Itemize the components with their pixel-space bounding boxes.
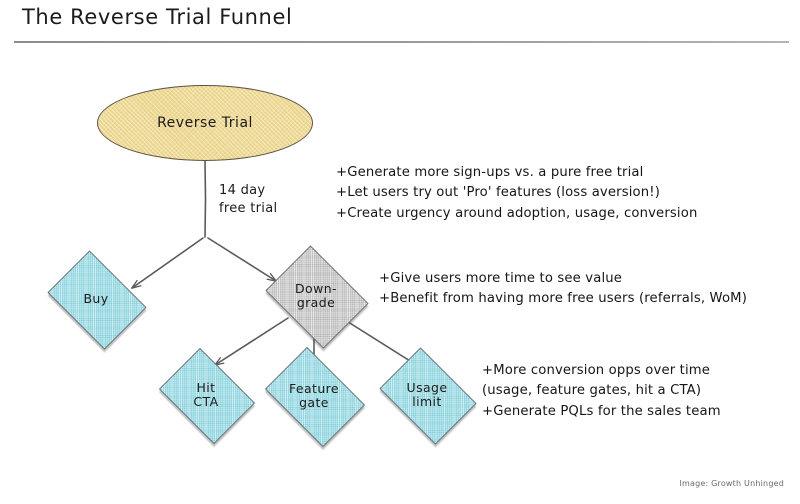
node-hit-cta[interactable]: HitCTA [152, 355, 260, 435]
node-reverse-trial-label: Reverse Trial [157, 115, 253, 131]
node-usage-limit-label: Usagelimit [407, 381, 448, 409]
note-line: +Generate more sign-ups vs. a pure free … [336, 163, 697, 183]
node-hit-cta-label-line1: Hit [197, 380, 216, 395]
node-downgrade-label-line2: grade [297, 295, 335, 310]
node-usage-limit[interactable]: Usagelimit [372, 355, 482, 435]
note-line: +Generate PQLs for the sales team [482, 402, 721, 422]
node-downgrade[interactable]: Down-grade [259, 252, 373, 340]
note-line: +More conversion opps over time [482, 361, 721, 381]
note-line: +Let users try out 'Pro' features (loss … [336, 183, 697, 203]
note-reverse-trial-benefits: +Generate more sign-ups vs. a pure free … [336, 163, 697, 224]
node-usage-limit-label-line2: limit [412, 394, 442, 409]
diagram-canvas: The Reverse Trial Funnel Reverse Trial B… [0, 0, 800, 504]
note-line: +Give users more time to see value [379, 269, 747, 289]
node-feature-gate-label: Featuregate [289, 382, 339, 410]
node-usage-limit-label-line1: Usage [407, 380, 448, 395]
node-reverse-trial[interactable]: Reverse Trial [97, 85, 313, 161]
note-outcome-benefits: +More conversion opps over time (usage, … [482, 361, 721, 422]
node-downgrade-label-line1: Down- [295, 281, 337, 296]
node-feature-gate[interactable]: Featuregate [257, 355, 371, 437]
note-downgrade-benefits: +Give users more time to see value +Bene… [379, 269, 747, 310]
node-hit-cta-label-line2: CTA [193, 394, 218, 409]
edge-label-free-trial-line2: free trial [219, 201, 277, 216]
note-line: +Create urgency around adoption, usage, … [336, 204, 697, 224]
node-hit-cta-label: HitCTA [193, 381, 218, 409]
node-buy[interactable]: Buy [40, 258, 152, 340]
edge-label-free-trial-line1: 14 day [219, 183, 265, 198]
image-credit: Image: Growth Unhinged [679, 479, 784, 488]
note-line: (usage, feature gates, hit a CTA) [482, 381, 721, 401]
node-feature-gate-label-line1: Feature [289, 381, 339, 396]
note-line: +Benefit from having more free users (re… [379, 289, 747, 309]
edge-reverse-trial-to-branch [205, 161, 206, 237]
edge-label-free-trial: 14 dayfree trial [219, 182, 277, 217]
node-buy-label: Buy [83, 292, 108, 306]
node-downgrade-label: Down-grade [295, 282, 337, 310]
node-feature-gate-label-line2: gate [299, 395, 329, 410]
